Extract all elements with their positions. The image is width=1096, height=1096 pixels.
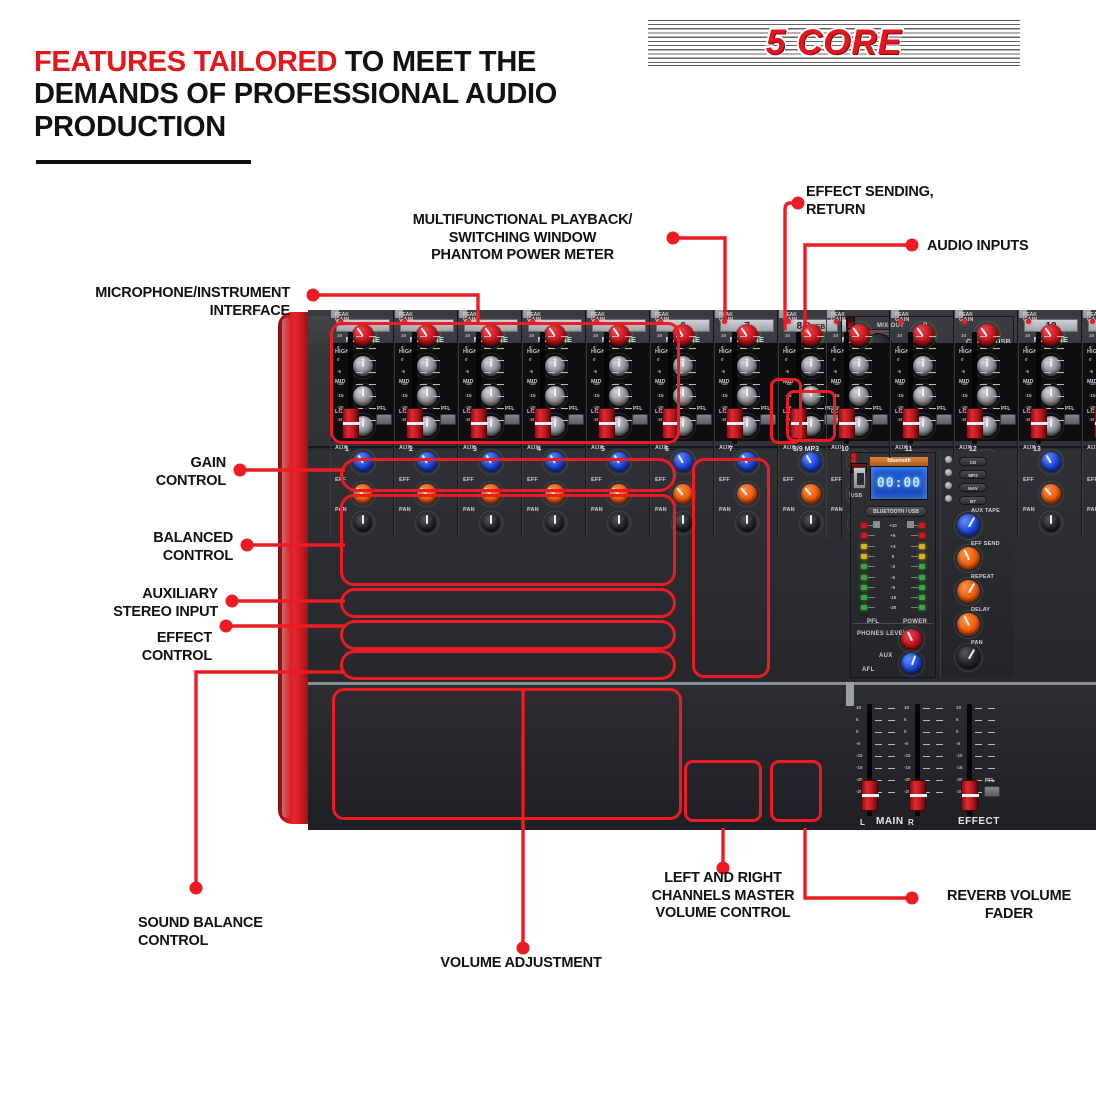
callout-audio-inputs: AUDIO INPUTS bbox=[927, 238, 1092, 256]
callout-gain-control: GAIN CONTROL bbox=[30, 455, 226, 490]
callout-left-right-master: LEFT AND RIGHT CHANNELS MASTER VOLUME CO… bbox=[608, 870, 838, 923]
callout-effect-sending-return: EFFECT SENDING, RETURN bbox=[806, 184, 1026, 219]
callout-reverb-volume-fader: REVERB VOLUME FADER bbox=[925, 888, 1093, 923]
callout-balanced-control: BALANCED CONTROL bbox=[30, 530, 233, 565]
callout-effect-control: EFFECT CONTROL bbox=[30, 630, 212, 665]
callout-microphone-instrument-interface: MICROPHONE/INSTRUMENT INTERFACE bbox=[10, 285, 290, 320]
callout-multifunctional-playback: MULTIFUNCTIONAL PLAYBACK/ SWITCHING WIND… bbox=[385, 212, 660, 265]
callout-sound-balance-control: SOUND BALANCE CONTROL bbox=[138, 915, 368, 950]
callout-volume-adjustment: VOLUME ADJUSTMENT bbox=[396, 955, 646, 973]
infographic-canvas: FEATURES TAILORED TO MEET THE DEMANDS OF… bbox=[0, 0, 1096, 1096]
callout-auxiliary-stereo-input: AUXILIARY STEREO INPUT bbox=[30, 586, 218, 621]
